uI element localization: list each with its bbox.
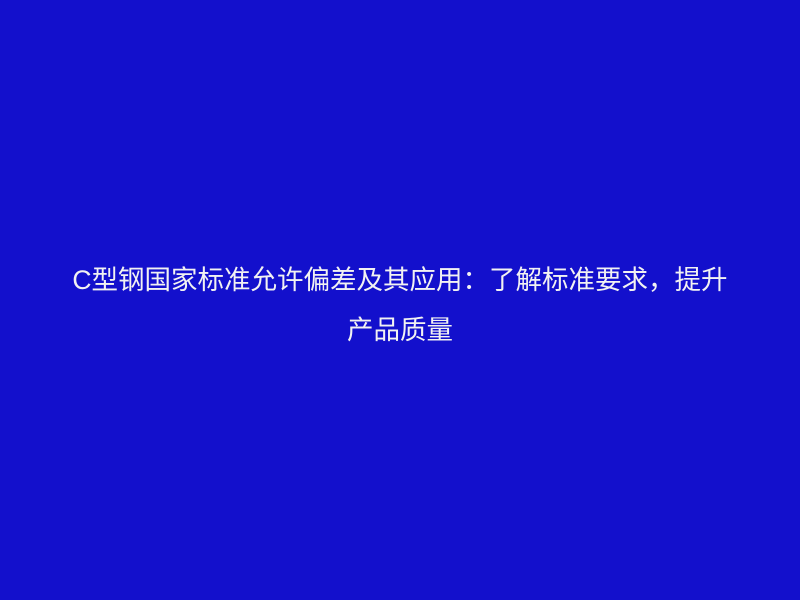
title-block: C型钢国家标准允许偏差及其应用：了解标准要求，提升产品质量	[60, 255, 740, 355]
slide-canvas: C型钢国家标准允许偏差及其应用：了解标准要求，提升产品质量	[0, 0, 800, 600]
page-title: C型钢国家标准允许偏差及其应用：了解标准要求，提升产品质量	[60, 255, 740, 355]
